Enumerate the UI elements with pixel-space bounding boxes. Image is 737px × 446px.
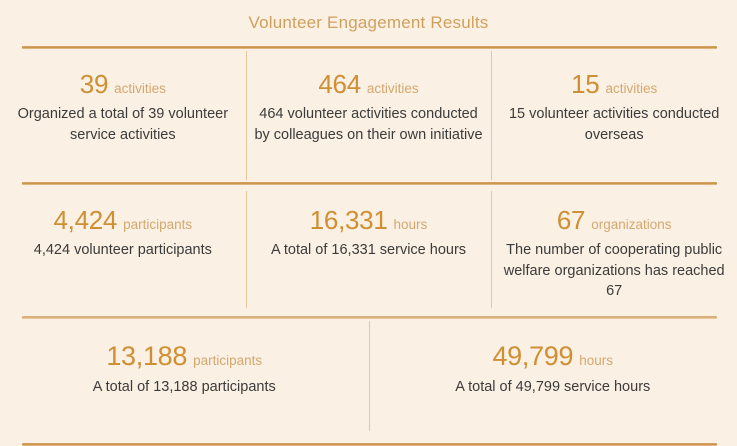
stat-unit: activities xyxy=(114,82,166,96)
stat-number: 13,188 xyxy=(106,343,187,370)
stat-card-cooperating-organizations: 67 organizations The number of cooperati… xyxy=(491,185,737,316)
stat-headline: 464 activities xyxy=(318,71,418,97)
stat-description: A total of 16,331 service hours xyxy=(271,240,466,261)
stat-card-self-initiated-activities: 464 activities 464 volunteer activities … xyxy=(246,49,492,182)
stats-row-participation: 4,424 participants 4,424 volunteer parti… xyxy=(0,185,737,316)
title-bar: Volunteer Engagement Results xyxy=(0,0,737,46)
volunteer-engagement-infographic: Volunteer Engagement Results 39 activiti… xyxy=(0,0,737,445)
stat-card-volunteer-participants: 4,424 participants 4,424 volunteer parti… xyxy=(0,185,246,316)
stat-unit: activities xyxy=(605,82,657,96)
stat-headline: 67 organizations xyxy=(557,207,672,233)
stat-card-total-service-hours: 49,799 hours A total of 49,799 service h… xyxy=(369,319,737,443)
stat-number: 67 xyxy=(557,207,585,233)
stat-unit: participants xyxy=(123,218,192,232)
stat-description: 4,424 volunteer participants xyxy=(34,240,212,261)
stat-headline: 39 activities xyxy=(80,71,166,97)
stat-number: 4,424 xyxy=(54,207,118,233)
stat-unit: hours xyxy=(579,354,613,368)
stat-number: 16,331 xyxy=(310,207,388,233)
page-title: Volunteer Engagement Results xyxy=(249,13,489,33)
stat-headline: 4,424 participants xyxy=(54,207,193,233)
stat-headline: 16,331 hours xyxy=(310,207,428,233)
stat-number: 39 xyxy=(80,71,108,97)
stat-number: 464 xyxy=(318,71,360,97)
stat-description: Organized a total of 39 volunteer servic… xyxy=(8,104,238,145)
stat-card-total-participants: 13,188 participants A total of 13,188 pa… xyxy=(0,319,369,443)
stat-description: A total of 13,188 participants xyxy=(93,377,276,398)
stat-headline: 15 activities xyxy=(571,71,657,97)
stat-card-overseas-activities: 15 activities 15 volunteer activities co… xyxy=(491,49,737,182)
stat-card-organized-activities: 39 activities Organized a total of 39 vo… xyxy=(0,49,246,182)
stat-number: 49,799 xyxy=(492,343,573,370)
stat-headline: 49,799 hours xyxy=(492,343,613,370)
stat-description: 15 volunteer activities conducted overse… xyxy=(499,104,729,145)
stats-row-activities: 39 activities Organized a total of 39 vo… xyxy=(0,49,737,182)
stat-description: The number of cooperating public welfare… xyxy=(499,240,729,302)
stat-unit: organizations xyxy=(591,218,671,232)
stats-row-totals: 13,188 participants A total of 13,188 pa… xyxy=(0,319,737,443)
stat-unit: hours xyxy=(393,218,427,232)
stat-unit: participants xyxy=(193,354,262,368)
stat-card-service-hours: 16,331 hours A total of 16,331 service h… xyxy=(246,185,492,316)
stat-number: 15 xyxy=(571,71,599,97)
stat-description: 464 volunteer activities conducted by co… xyxy=(254,104,484,145)
stat-unit: activities xyxy=(367,82,419,96)
stat-description: A total of 49,799 service hours xyxy=(455,377,650,398)
stat-headline: 13,188 participants xyxy=(106,343,262,370)
